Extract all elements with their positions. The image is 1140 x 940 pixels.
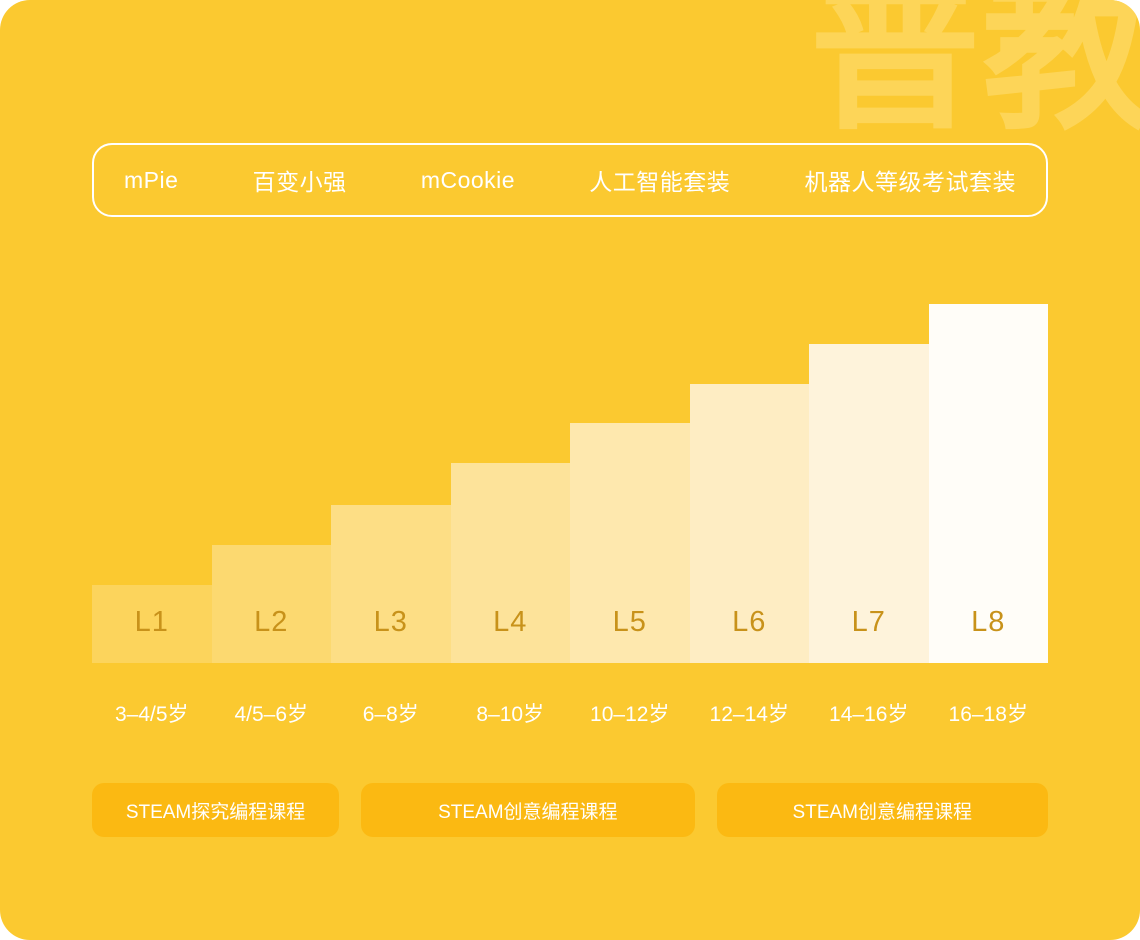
chart-bar-l7[interactable]: L7 [809,344,929,663]
chart-bar-label: L7 [852,606,886,663]
age-range-l4: 8–10岁 [451,698,571,728]
chart-bar-label: L5 [613,606,647,663]
age-range-l7: 14–16岁 [809,698,929,728]
chart-bar-l5[interactable]: L5 [570,423,690,663]
chart-bar-l3[interactable]: L3 [331,505,451,663]
age-range-l5: 10–12岁 [570,698,690,728]
course-badge-explore[interactable]: STEAM探究编程课程 [92,783,339,837]
product-item-baibianxiaoqiang[interactable]: 百变小强 [253,163,347,197]
chart-bar-label: L2 [254,606,288,663]
course-badge-creative-1[interactable]: STEAM创意编程课程 [361,783,694,837]
course-badge-row: STEAM探究编程课程 STEAM创意编程课程 STEAM创意编程课程 [92,783,1048,837]
age-range-l8: 16–18岁 [929,698,1049,728]
chart-bar-label: L4 [493,606,527,663]
chart-bar-label: L1 [135,606,169,663]
product-list-bar: mPie 百变小强 mCookie 人工智能套装 机器人等级考试套装 [92,143,1048,217]
course-level-card: 普教 mPie 百变小强 mCookie 人工智能套装 机器人等级考试套装 L1… [0,0,1140,940]
chart-bar-l1[interactable]: L1 [92,585,212,663]
age-range-l1: 3–4/5岁 [92,698,212,728]
product-item-ai-kit[interactable]: 人工智能套装 [589,163,730,197]
product-item-mpie[interactable]: mPie [124,167,178,194]
chart-bar-l8[interactable]: L8 [929,304,1049,663]
chart-bar-l2[interactable]: L2 [212,545,332,663]
brand-watermark: 普教 [810,0,1140,140]
product-item-mcookie[interactable]: mCookie [421,167,515,194]
age-range-row: 3–4/5岁 4/5–6岁 6–8岁 8–10岁 10–12岁 12–14岁 1… [92,698,1048,728]
level-bar-chart: L1 L2 L3 L4 L5 L6 L7 L8 [92,290,1048,663]
chart-bar-label: L3 [374,606,408,663]
chart-bar-l4[interactable]: L4 [451,463,571,663]
age-range-l3: 6–8岁 [331,698,451,728]
product-item-robot-exam-kit[interactable]: 机器人等级考试套装 [804,163,1016,197]
course-badge-creative-2[interactable]: STEAM创意编程课程 [717,783,1048,837]
chart-bar-label: L8 [971,606,1005,663]
age-range-l6: 12–14岁 [690,698,810,728]
age-range-l2: 4/5–6岁 [212,698,332,728]
chart-bar-label: L6 [732,606,766,663]
chart-bar-l6[interactable]: L6 [690,384,810,663]
